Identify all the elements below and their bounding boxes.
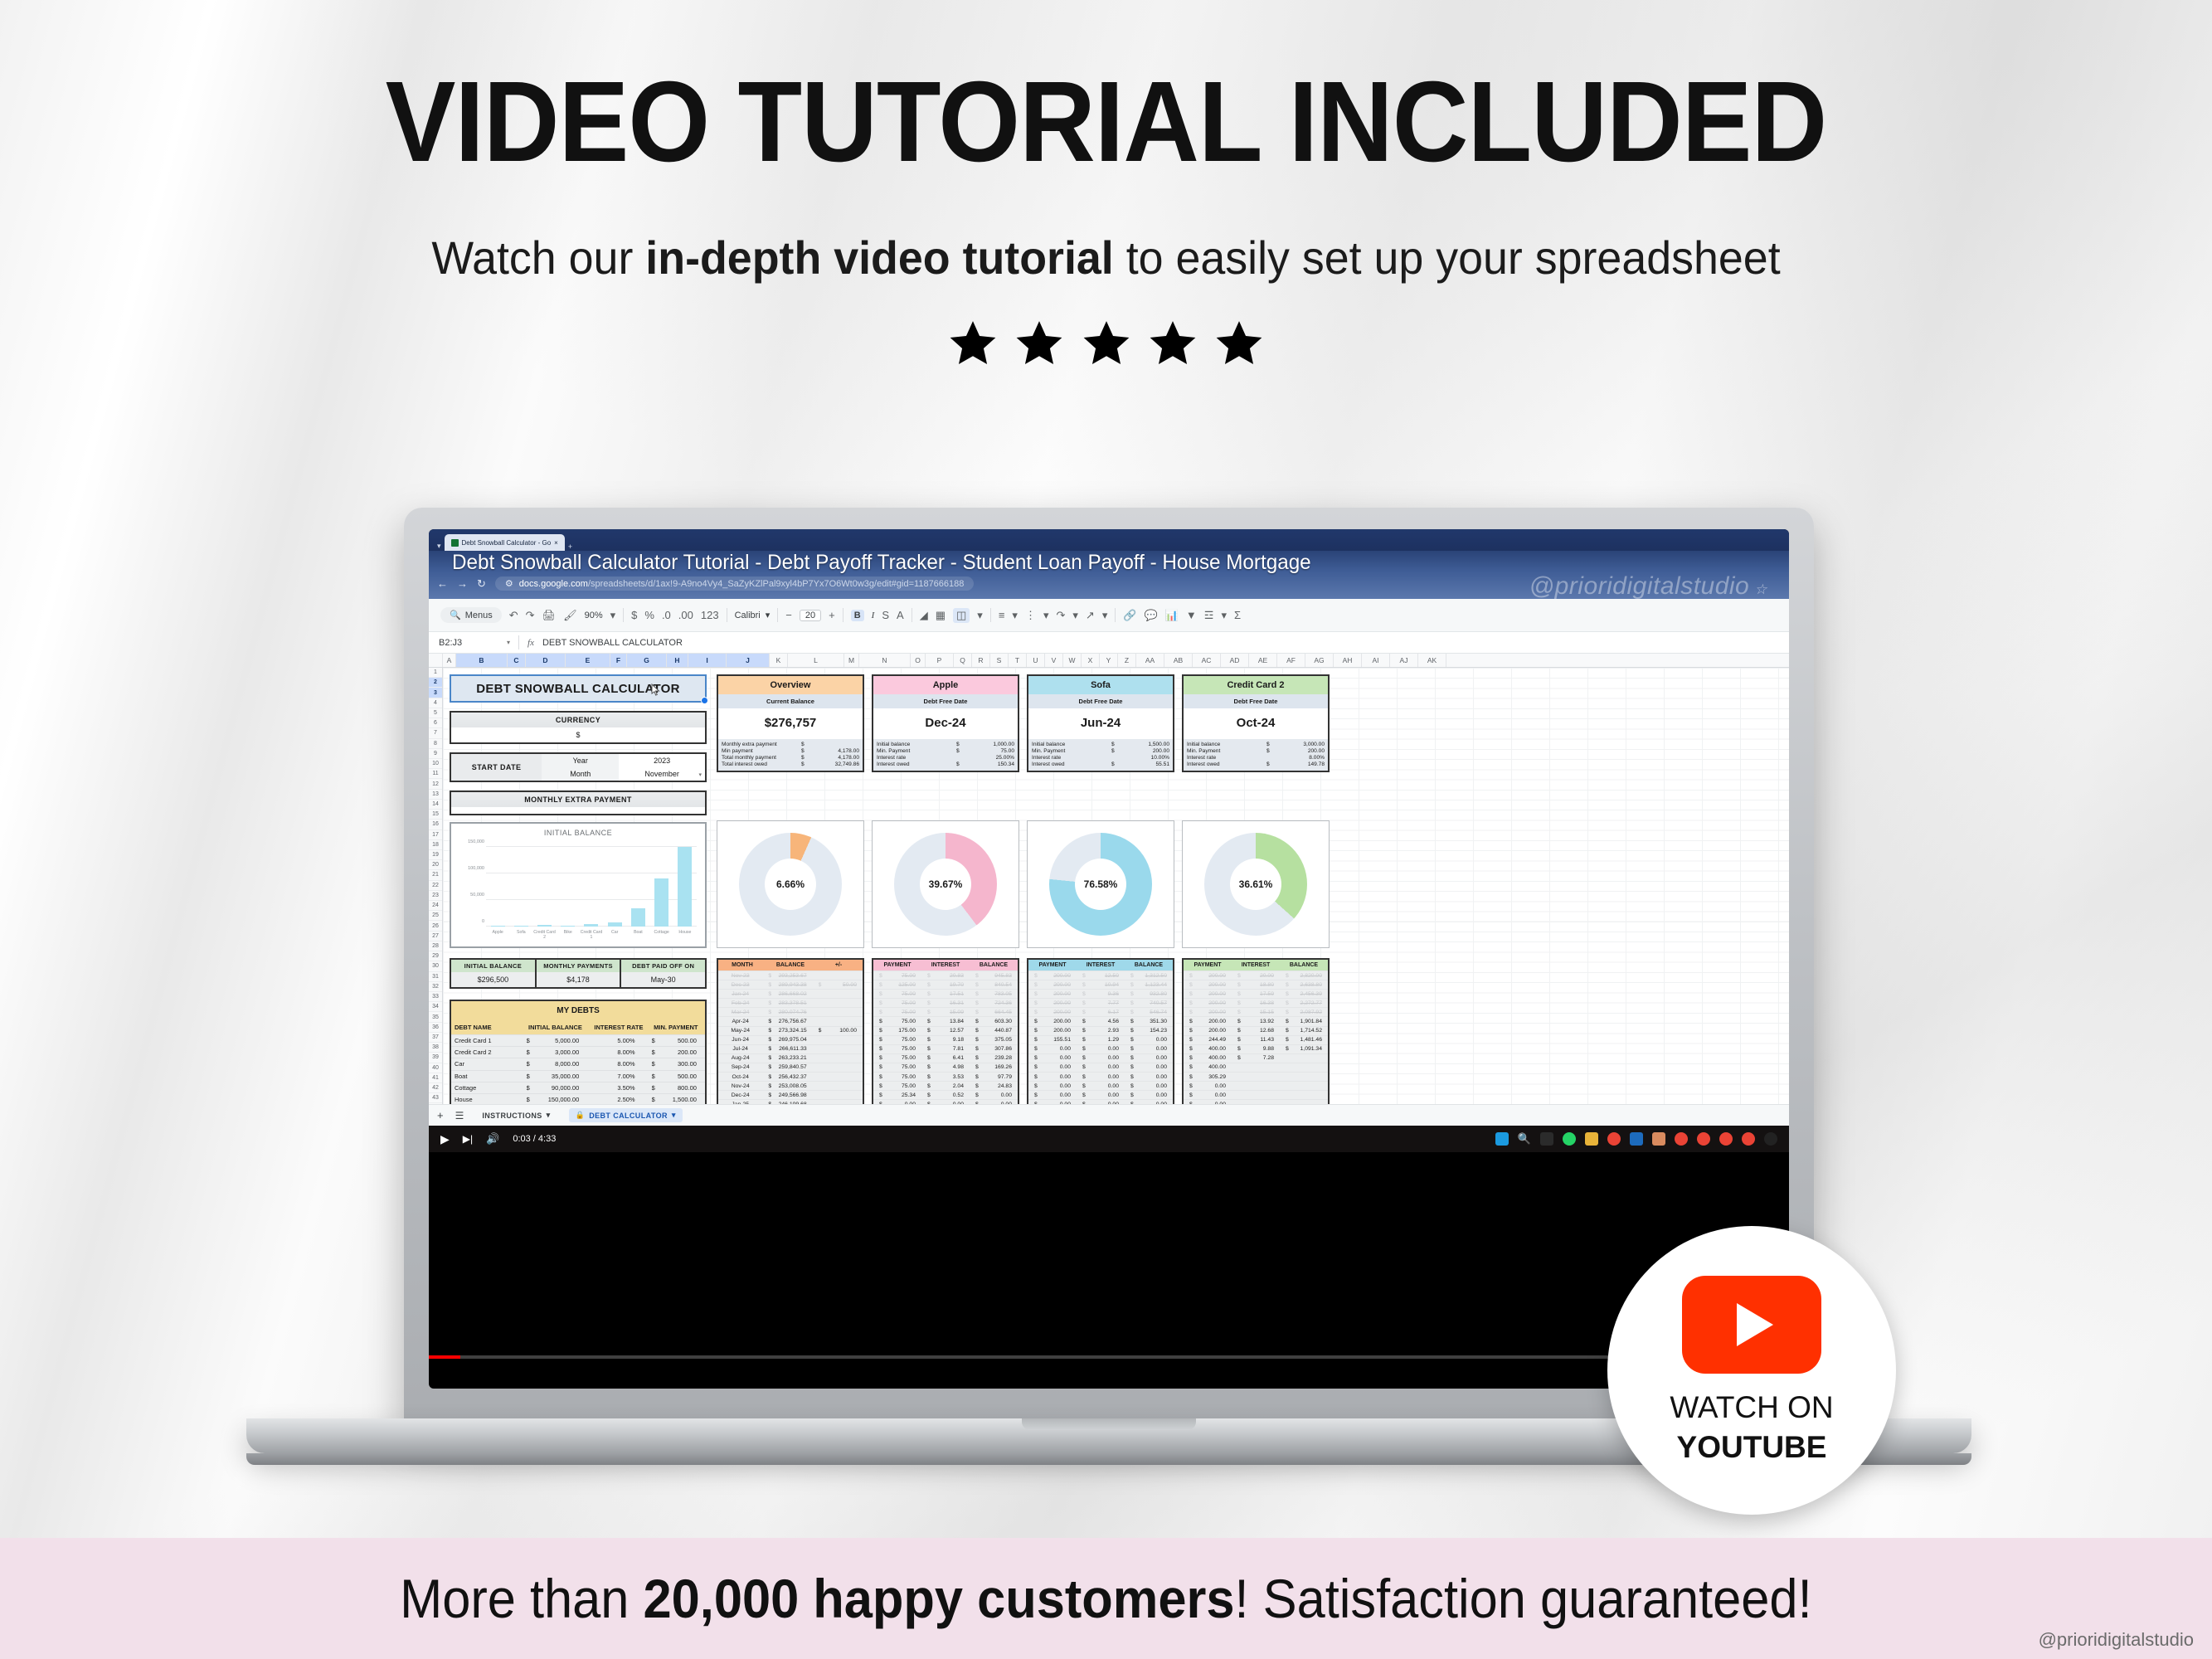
summary-value: May-30 [621, 972, 705, 987]
sheet-tab-bar: + ☰ INSTRUCTIONS ▾ 🔒 DEBT CALCULATOR ▾ [429, 1104, 1789, 1126]
summary-card[interactable]: OverviewCurrent Balance$276,757Monthly e… [717, 674, 864, 772]
watch-on-youtube-badge[interactable]: WATCH ON YOUTUBE [1607, 1226, 1896, 1515]
row-header-17[interactable]: 17 [429, 830, 442, 840]
detail-cell [1280, 1073, 1328, 1081]
fill-color-icon[interactable]: ◢ [920, 609, 928, 622]
column-header-AD[interactable]: AD [1221, 654, 1249, 667]
donut-chart[interactable]: 39.67% [872, 820, 1019, 948]
table-row[interactable]: Aug-24263,233.21 [718, 1053, 863, 1063]
currency-format-icon[interactable]: $ [631, 609, 637, 621]
row-header-23[interactable]: 23 [429, 891, 442, 901]
column-header-F[interactable]: F [610, 654, 627, 667]
forward-icon[interactable]: → [457, 577, 468, 590]
row-headers[interactable]: 1234567891011121314151617181920212223242… [429, 668, 443, 1104]
table-row[interactable]: 244.4911.431,481.46 [1184, 1035, 1328, 1044]
site-info-icon[interactable]: ⚙ [505, 578, 513, 589]
chrome-icon[interactable] [1697, 1132, 1710, 1146]
insert-comment-icon[interactable]: 💬 [1145, 609, 1158, 622]
close-icon[interactable]: × [554, 539, 558, 547]
table-row[interactable]: 200.009.36932.80 [1028, 989, 1173, 998]
url-input[interactable]: ⚙ docs.google.com/spreadsheets/d/1ax!9-A… [495, 577, 974, 591]
table-row[interactable]: 0.000.000.00 [1028, 1044, 1173, 1053]
detail-cell: 12.57 [921, 1027, 970, 1035]
task-view-icon[interactable] [1540, 1132, 1553, 1146]
detail-cell: 1,714.52 [1280, 1027, 1328, 1035]
functions-icon[interactable]: Σ [1234, 609, 1241, 621]
row-header-1[interactable]: 1 [429, 668, 442, 678]
table-row[interactable]: Car8,000.008.00%300.00 [451, 1058, 705, 1069]
decrease-decimal-icon[interactable]: .0 [662, 609, 671, 621]
row-header-38[interactable]: 38 [429, 1043, 442, 1053]
table-row[interactable]: 0.000.000.00 [1028, 1063, 1173, 1072]
print-icon[interactable]: 🖨 [542, 609, 557, 622]
column-header-W[interactable]: W [1063, 654, 1082, 667]
detail-table[interactable]: PAYMENTINTERESTBALANCE200.0012.501,312.5… [1027, 958, 1174, 1104]
row-header-4[interactable]: 4 [429, 698, 442, 708]
detail-cell: 11.43 [1232, 1036, 1280, 1044]
table-row[interactable]: 75.0017.51783.05 [873, 989, 1018, 998]
column-header-AG[interactable]: AG [1305, 654, 1334, 667]
sheet-tab-debt-calculator[interactable]: 🔒 DEBT CALCULATOR ▾ [569, 1108, 683, 1122]
chart-bar [631, 908, 645, 927]
detail-col-header: PAYMENT [873, 960, 921, 971]
table-row[interactable]: 200.0012.681,714.52 [1184, 1026, 1328, 1035]
row-header-34[interactable]: 34 [429, 1002, 442, 1012]
banner-post: ! Satisfaction guaranteed! [1235, 1568, 1812, 1629]
windows-start-icon[interactable] [1495, 1132, 1509, 1146]
row-header-21[interactable]: 21 [429, 870, 442, 880]
column-header-AJ[interactable]: AJ [1390, 654, 1418, 667]
row-header-41[interactable]: 41 [429, 1073, 442, 1083]
column-header-AB[interactable]: AB [1164, 654, 1193, 667]
currency-block[interactable]: CURRENCY $ [450, 711, 707, 744]
detail-cell: Apr-24 [718, 1017, 762, 1025]
table-row[interactable]: 400.007.28 [1184, 1053, 1328, 1063]
detail-cell: Jul-24 [718, 1045, 762, 1053]
row-header-35[interactable]: 35 [429, 1012, 442, 1022]
row-header-37[interactable]: 37 [429, 1033, 442, 1043]
whatsapp-icon[interactable] [1563, 1132, 1576, 1146]
column-header-AH[interactable]: AH [1334, 654, 1362, 667]
table-row[interactable]: 25.340.520.00 [873, 1090, 1018, 1099]
row-header-19[interactable]: 19 [429, 850, 442, 860]
table-row[interactable]: 155.511.290.00 [1028, 1035, 1173, 1044]
row-header-22[interactable]: 22 [429, 881, 442, 891]
detail-cell: 17.51 [921, 990, 970, 998]
text-color-button[interactable]: A [897, 609, 904, 621]
table-row[interactable]: 75.002.0424.83 [873, 1081, 1018, 1090]
text-rotation-icon[interactable]: ↗ [1086, 609, 1095, 622]
text-wrap-icon[interactable]: ↷ [1056, 609, 1065, 622]
row-header-16[interactable]: 16 [429, 820, 442, 829]
detail-tables: MONTHBALANCE+/-Nov-23293,253.67Dec-23289… [717, 958, 1789, 1104]
chevron-down-icon[interactable]: ▾ [977, 609, 983, 622]
table-row[interactable]: Dec-24249,566.98 [718, 1090, 863, 1099]
table-row[interactable]: 75.0013.84603.30 [873, 1016, 1018, 1025]
column-header-K[interactable]: K [770, 654, 788, 667]
table-row[interactable]: 75.009.18375.05 [873, 1035, 1018, 1044]
table-row[interactable]: 200.0020.002,820.00 [1184, 971, 1328, 980]
row-header-28[interactable]: 28 [429, 941, 442, 951]
table-row[interactable]: 200.0017.592,456.39 [1184, 989, 1328, 998]
column-header-AI[interactable]: AI [1362, 654, 1390, 667]
column-header-O[interactable]: O [911, 654, 926, 667]
column-header-Y[interactable]: Y [1100, 654, 1118, 667]
chart-bars [486, 847, 697, 927]
donut-charts: 6.66%39.67%76.58%36.61% [717, 820, 1789, 948]
table-row[interactable]: 125.0019.70840.54 [873, 980, 1018, 989]
stat-currency [956, 755, 966, 761]
column-header-X[interactable]: X [1082, 654, 1100, 667]
chevron-down-icon[interactable]: ▾ [1072, 609, 1078, 622]
column-header-G[interactable]: G [627, 654, 667, 667]
my-debts-table[interactable]: MY DEBTS DEBT NAMEINITIAL BALANCEINTERES… [450, 1000, 707, 1104]
table-row[interactable]: Credit Card 15,000.005.00%500.00 [451, 1034, 705, 1046]
table-row[interactable]: 75.003.5397.79 [873, 1072, 1018, 1081]
table-row[interactable]: Jun-24269,975.04 [718, 1035, 863, 1044]
debt-balance: 90,000.00 [520, 1082, 591, 1093]
detail-cell: Dec-24 [718, 1091, 762, 1099]
row-header-18[interactable]: 18 [429, 840, 442, 850]
column-header-A[interactable]: A [443, 654, 456, 667]
year-label: Year [542, 754, 619, 767]
detail-cell: 2,820.00 [1280, 971, 1328, 980]
menus-button[interactable]: 🔍 Menus [440, 607, 502, 623]
card-stat-row: Interest rate8.00% [1187, 754, 1325, 761]
column-header-S[interactable]: S [990, 654, 1009, 667]
table-row[interactable]: Nov-24253,008.05 [718, 1081, 863, 1090]
year-value[interactable]: 2023 [619, 754, 705, 767]
chrome-icon[interactable] [1607, 1132, 1621, 1146]
chevron-down-icon[interactable]: ▾ [766, 610, 771, 620]
chevron-down-icon[interactable]: ▾ [1012, 609, 1018, 622]
column-header-Z[interactable]: Z [1118, 654, 1136, 667]
column-headers[interactable]: ABCDEFGHIJKLMNOPQRSTUVWXYZAAABACADAEAFAG… [429, 654, 1789, 668]
column-header-E[interactable]: E [566, 654, 610, 667]
row-header-6[interactable]: 6 [429, 718, 442, 728]
table-row[interactable]: Boat35,000.007.00%500.00 [451, 1070, 705, 1082]
row-header-31[interactable]: 31 [429, 972, 442, 982]
file-explorer-icon[interactable] [1585, 1132, 1598, 1146]
row-header-29[interactable]: 29 [429, 951, 442, 961]
media-app-icon[interactable] [1764, 1132, 1777, 1146]
stat-currency [1266, 755, 1276, 761]
undo-icon[interactable]: ↶ [509, 609, 518, 622]
video-progress-bar[interactable] [429, 1355, 1789, 1359]
table-row[interactable]: 0.00 [1184, 1099, 1328, 1104]
table-row[interactable]: Apr-24276,756.67 [718, 1016, 863, 1025]
table-row[interactable]: 75.006.41239.28 [873, 1053, 1018, 1063]
table-row[interactable]: 200.0016.382,272.77 [1184, 998, 1328, 1007]
column-header-T[interactable]: T [1009, 654, 1027, 667]
column-header-R[interactable]: R [972, 654, 990, 667]
table-row[interactable]: Mar-24280,074.76 [718, 1007, 863, 1016]
search-icon[interactable]: 🔍 [1518, 1132, 1531, 1146]
table-row[interactable]: Oct-24256,432.37 [718, 1072, 863, 1081]
merge-cells-icon[interactable]: ◫ [953, 608, 970, 623]
bookmark-star-icon[interactable]: ☆ [1754, 581, 1767, 597]
strikethrough-button[interactable]: S [882, 609, 889, 621]
paint-format-icon[interactable]: 🖌 [563, 609, 577, 622]
row-header-39[interactable]: 39 [429, 1053, 442, 1063]
table-row[interactable]: 200.0018.802,638.80 [1184, 980, 1328, 989]
detail-cell: 2,087.92 [1280, 1008, 1328, 1016]
filter-icon[interactable]: ▼ [1186, 609, 1197, 621]
card-stat-row: Initial balance$3,000.00 [1187, 741, 1325, 747]
detail-cell [1232, 1091, 1280, 1099]
column-header-AE[interactable]: AE [1249, 654, 1277, 667]
row-header-8[interactable]: 8 [429, 739, 442, 749]
row-header-42[interactable]: 42 [429, 1083, 442, 1093]
donut-chart[interactable]: 36.61% [1182, 820, 1330, 948]
horizontal-align-icon[interactable]: ≡ [999, 609, 1005, 621]
detail-table[interactable]: PAYMENTINTERESTBALANCE200.0020.002,820.0… [1182, 958, 1330, 1104]
chevron-down-icon[interactable]: ▾ [1043, 609, 1049, 622]
filter-views-icon[interactable]: ☲ [1204, 609, 1214, 622]
row-header-15[interactable]: 15 [429, 810, 442, 820]
column-header-AC[interactable]: AC [1193, 654, 1221, 667]
column-header-H[interactable]: H [667, 654, 688, 667]
start-date-block[interactable]: START DATE Year Month 2023 November▾ [450, 752, 707, 782]
row-header-14[interactable]: 14 [429, 800, 442, 810]
detail-cell: 16.31 [921, 999, 970, 1007]
tab-menu-icon[interactable]: ▾ [437, 542, 441, 551]
all-sheets-icon[interactable]: ☰ [455, 1110, 464, 1121]
sheet-tab-instructions[interactable]: INSTRUCTIONS ▾ [475, 1108, 557, 1122]
row-header-43[interactable]: 43 [429, 1093, 442, 1103]
table-row[interactable]: 200.0013.921,901.84 [1184, 1016, 1328, 1025]
column-header-M[interactable]: M [844, 654, 859, 667]
sheet-tab-label: DEBT CALCULATOR [589, 1112, 668, 1120]
toolbar-divider [843, 608, 843, 622]
column-header-C[interactable]: C [508, 654, 526, 667]
summary-card[interactable]: SofaDebt Free DateJun-24Initial balance$… [1027, 674, 1174, 772]
add-sheet-button[interactable]: + [437, 1109, 444, 1121]
zoom-level[interactable]: 90% [585, 611, 603, 620]
table-row[interactable]: Credit Card 23,000.008.00%200.00 [451, 1046, 705, 1058]
percent-format-icon[interactable]: % [644, 609, 654, 621]
column-header-AK[interactable]: AK [1418, 654, 1446, 667]
column-header-Q[interactable]: Q [954, 654, 972, 667]
table-row[interactable]: 75.0016.31724.36 [873, 998, 1018, 1007]
row-header-11[interactable]: 11 [429, 769, 442, 779]
row-header-36[interactable]: 36 [429, 1023, 442, 1033]
increase-decimal-icon[interactable]: .00 [678, 609, 693, 621]
detail-table[interactable]: MONTHBALANCE+/-Nov-23293,253.67Dec-23289… [717, 958, 864, 1104]
column-header-B[interactable]: B [456, 654, 508, 667]
table-row[interactable]: 0.000.000.00 [1028, 1072, 1173, 1081]
card-title: Sofa [1028, 676, 1173, 694]
chevron-down-icon[interactable]: ▾ [507, 639, 510, 646]
formula-bar: B2:J3 ▾ fx DEBT SNOWBALL CALCULATOR [429, 632, 1789, 654]
table-row[interactable]: 75.004.98169.26 [873, 1063, 1018, 1072]
table-row[interactable]: 400.009.881,091.34 [1184, 1044, 1328, 1053]
month-value-text: November [644, 770, 679, 778]
corner-select-all[interactable] [429, 654, 443, 667]
chevron-down-icon[interactable]: ▾ [610, 609, 616, 622]
column-header-I[interactable]: I [688, 654, 727, 667]
row-header-9[interactable]: 9 [429, 749, 442, 759]
month-label: Month [542, 767, 619, 781]
new-tab-icon[interactable]: + [568, 542, 572, 551]
detail-cell [813, 1100, 863, 1104]
table-row[interactable]: 200.0010.941,123.44 [1028, 980, 1173, 989]
column-header-L[interactable]: L [788, 654, 844, 667]
table-row[interactable]: Feb-24283,378.51 [718, 998, 863, 1007]
chevron-down-icon[interactable]: ▾ [1102, 609, 1108, 622]
store-icon[interactable] [1630, 1132, 1643, 1146]
redo-icon[interactable]: ↷ [526, 609, 535, 622]
italic-button[interactable]: I [872, 611, 875, 620]
reload-icon[interactable]: ↻ [477, 577, 486, 591]
monthly-extra-value[interactable] [451, 807, 705, 814]
table-row[interactable]: 0.000.000.00 [1028, 1081, 1173, 1090]
stat-key: Interest owed [1187, 761, 1266, 767]
table-row[interactable]: 0.000.000.00 [1028, 1090, 1173, 1099]
summary-card[interactable]: AppleDebt Free DateDec-24Initial balance… [872, 674, 1019, 772]
table-row[interactable]: 75.007.81307.86 [873, 1044, 1018, 1053]
play-icon[interactable]: ▶ [440, 1132, 450, 1146]
monthly-extra-block[interactable]: MONTHLY EXTRA PAYMENT [450, 791, 707, 815]
table-row[interactable]: 0.000.000.00 [1028, 1099, 1173, 1104]
table-row[interactable]: 200.004.56351.30 [1028, 1016, 1173, 1025]
font-family-label: Calibri [735, 611, 761, 620]
font-family-select[interactable]: Calibri ▾ [735, 610, 771, 620]
initial-balance-chart[interactable]: INITIAL BALANCE 050,000100,000150,000 Ap… [450, 822, 707, 948]
table-row[interactable]: Jan-24286,668.02 [718, 989, 863, 998]
table-row[interactable]: 0.00 [1184, 1081, 1328, 1090]
chrome-icon[interactable] [1719, 1132, 1733, 1146]
table-row[interactable]: Jan-25246,109.68 [718, 1099, 863, 1104]
more-formats-icon[interactable]: 123 [701, 609, 719, 621]
increase-font-size-icon[interactable]: + [829, 609, 835, 621]
table-row[interactable]: 200.0015.152,087.92 [1184, 1007, 1328, 1016]
detail-cell [813, 1063, 863, 1072]
table-row[interactable]: 75.0015.09664.45 [873, 1007, 1018, 1016]
row-header-3[interactable]: 3 [429, 688, 442, 698]
row-header-7[interactable]: 7 [429, 728, 442, 738]
insert-link-icon[interactable]: 🔗 [1123, 609, 1136, 622]
row-header-24[interactable]: 24 [429, 901, 442, 911]
table-row[interactable]: 0.000.000.00 [873, 1099, 1018, 1104]
table-row[interactable]: 0.000.000.00 [1028, 1053, 1173, 1063]
table-row[interactable]: 400.00 [1184, 1063, 1328, 1072]
column-header-AF[interactable]: AF [1277, 654, 1305, 667]
row-header-13[interactable]: 13 [429, 790, 442, 800]
table-row[interactable]: 200.0012.501,312.50 [1028, 971, 1173, 980]
table-row[interactable]: 0.00 [1184, 1090, 1328, 1099]
summary-cards: OverviewCurrent Balance$276,757Monthly e… [717, 674, 1789, 772]
stat-key: Min. Payment [1187, 748, 1266, 754]
font-size-input[interactable]: 20 [800, 610, 821, 621]
next-icon[interactable]: ▶| [463, 1133, 473, 1145]
row-header-30[interactable]: 30 [429, 961, 442, 971]
month-value[interactable]: November▾ [619, 767, 705, 781]
table-row[interactable]: May-24273,324.15100.00 [718, 1026, 863, 1035]
formula-input[interactable]: DEBT SNOWBALL CALCULATOR [542, 638, 683, 648]
insert-chart-icon[interactable]: 📊 [1165, 609, 1179, 622]
column-header-D[interactable]: D [526, 654, 566, 667]
chevron-down-icon[interactable]: ▾ [698, 771, 702, 778]
chevron-down-icon[interactable]: ▾ [1221, 609, 1227, 622]
column-header-AA[interactable]: AA [1136, 654, 1164, 667]
column-header-U[interactable]: U [1027, 654, 1045, 667]
decrease-font-size-icon[interactable]: − [785, 609, 792, 621]
table-row[interactable]: Nov-23293,253.67 [718, 971, 863, 980]
row-header-26[interactable]: 26 [429, 921, 442, 931]
detail-cell: 249,566.98 [762, 1091, 812, 1099]
donut-chart[interactable]: 6.66% [717, 820, 864, 948]
table-row[interactable]: 200.006.17546.74 [1028, 1007, 1173, 1016]
currency-value[interactable]: $ [451, 727, 705, 742]
row-header-32[interactable]: 32 [429, 982, 442, 992]
table-row[interactable]: Dec-23289,943.3850.00 [718, 980, 863, 989]
table-row[interactable]: Jul-24266,611.33 [718, 1044, 863, 1053]
table-row[interactable]: House150,000.002.50%1,500.00 [451, 1093, 705, 1104]
table-row[interactable]: 75.0020.83945.83 [873, 971, 1018, 980]
table-row[interactable]: 305.29 [1184, 1072, 1328, 1081]
row-header-20[interactable]: 20 [429, 860, 442, 870]
chevron-down-icon[interactable]: ▾ [547, 1111, 551, 1120]
start-date-labels: Year Month [542, 754, 619, 781]
chrome-icon[interactable] [1675, 1132, 1688, 1146]
detail-cell: 18.80 [1232, 980, 1280, 989]
bold-button[interactable]: B [851, 610, 864, 621]
browser-tab[interactable]: Debt Snowball Calculator - Go × [445, 534, 565, 551]
row-header-40[interactable]: 40 [429, 1063, 442, 1073]
column-header-N[interactable]: N [859, 654, 911, 667]
row-header-25[interactable]: 25 [429, 911, 442, 921]
column-header-P[interactable]: P [926, 654, 954, 667]
table-row[interactable]: 200.002.93154.23 [1028, 1026, 1173, 1035]
sheet-canvas[interactable]: DEBT SNOWBALL CALCULATOR CURRENCY $ STAR… [443, 668, 1789, 1104]
detail-table[interactable]: PAYMENTINTERESTBALANCE75.0020.83945.8312… [872, 958, 1019, 1104]
star-icon [946, 318, 999, 369]
summary-card[interactable]: Credit Card 2Debt Free DateOct-24Initial… [1182, 674, 1330, 772]
row-header-2[interactable]: 2 [429, 678, 442, 688]
borders-icon[interactable]: ▦ [936, 609, 946, 622]
name-box[interactable]: B2:J3 [439, 638, 498, 648]
back-icon[interactable]: ← [437, 577, 448, 590]
chevron-down-icon[interactable]: ▾ [672, 1111, 676, 1120]
table-row[interactable]: Cottage90,000.003.50%800.00 [451, 1082, 705, 1093]
table-row[interactable]: 175.0012.57440.87 [873, 1026, 1018, 1035]
detail-table-header: PAYMENTINTERESTBALANCE [873, 960, 1018, 971]
debt-balance: 5,000.00 [520, 1035, 591, 1046]
row-header-10[interactable]: 10 [429, 759, 442, 769]
sheet-title-cell[interactable]: DEBT SNOWBALL CALCULATOR [450, 674, 707, 703]
row-header-12[interactable]: 12 [429, 779, 442, 789]
table-row[interactable]: Sep-24259,840.57 [718, 1063, 863, 1072]
column-header-V[interactable]: V [1045, 654, 1063, 667]
detail-cell: 9.88 [1232, 1045, 1280, 1053]
stat-currency: $ [801, 742, 811, 747]
vertical-align-icon[interactable]: ⋮ [1025, 609, 1036, 622]
row-header-5[interactable]: 5 [429, 708, 442, 718]
detail-cell: 24.83 [970, 1082, 1018, 1090]
table-row[interactable]: 200.007.77740.57 [1028, 998, 1173, 1007]
donut-chart[interactable]: 76.58% [1027, 820, 1174, 948]
volume-icon[interactable]: 🔊 [486, 1132, 499, 1146]
detail-cell: 200.00 [1184, 990, 1232, 998]
row-header-27[interactable]: 27 [429, 932, 442, 941]
column-header-J[interactable]: J [727, 654, 770, 667]
detail-cell: 75.00 [873, 1054, 921, 1063]
chrome-icon[interactable] [1742, 1132, 1755, 1146]
snipping-tool-icon[interactable] [1652, 1132, 1665, 1146]
detail-cell: 17.59 [1232, 990, 1280, 998]
row-header-33[interactable]: 33 [429, 992, 442, 1002]
